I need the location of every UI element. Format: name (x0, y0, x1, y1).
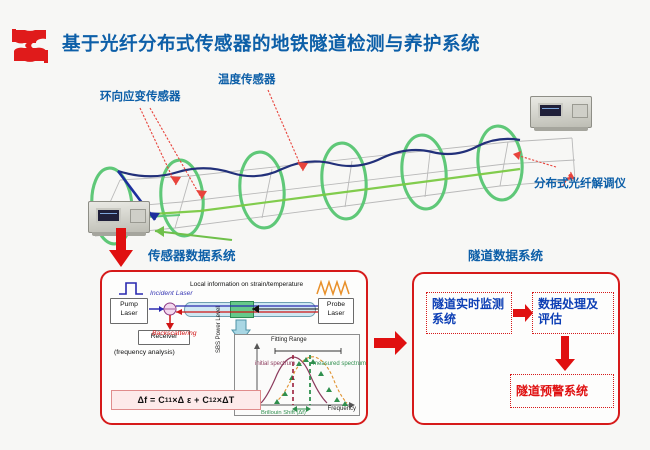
metro-logo-icon (10, 26, 50, 66)
arrow-down-to-sensor-panel (108, 228, 134, 268)
formula-rhs: ×ΔT (217, 395, 235, 405)
box-data-processing-evaluation[interactable]: 数据处理及评估 (532, 292, 614, 334)
fitting-range-label: Fitting Range (271, 337, 307, 343)
box-tunnel-warning-system[interactable]: 隧道预警系统 (510, 374, 614, 408)
chart-ylabel: SBS Power Level (216, 297, 222, 353)
measured-spectrum-label: measured spectrum (313, 361, 366, 368)
instrument-screen (538, 103, 563, 118)
box-tunnel-monitoring-system[interactable]: 隧道实时监测系统 (426, 292, 512, 334)
page-title: 基于光纤分布式传感器的地铁隧道检测与养护系统 (62, 30, 480, 56)
brillouin-shift-label: Brillouin Shift (Δf) (261, 410, 306, 416)
formula-lhs: Δf = C (137, 395, 164, 405)
formula-mid: ×Δ ε + C (172, 395, 209, 405)
chart-xlabel: Frequency (328, 406, 356, 412)
caption-tunnel-data-system: 隧道数据系统 (468, 245, 543, 264)
arrow-process-to-warning (555, 336, 575, 372)
label-temperature-sensor: 温度传感器 (218, 73, 276, 87)
instrument-foot (534, 127, 589, 131)
initial-spectrum-label: initial spectrum (255, 361, 295, 368)
tunnel-data-panel: 隧道实时监测系统 数据处理及评估 隧道预警系统 (412, 272, 620, 425)
instrument-knobs (572, 104, 588, 118)
label-hoop-strain-sensor: 环向应变传感器 (100, 90, 181, 104)
arrow-monitor-to-process (513, 304, 533, 322)
formula-sub1: 11 (165, 397, 172, 404)
brillouin-formula: Δf = C11×Δ ε + C12×ΔT (111, 390, 261, 410)
instrument-screen (96, 208, 121, 223)
label-demodulator: 分布式光纤解调仪 (534, 177, 624, 191)
sensor-data-panel: Pump Laser Probe Laser Receiver (frequen… (100, 270, 368, 425)
arrow-panel-to-panel (374, 330, 408, 356)
formula-sub2: 12 (209, 397, 217, 404)
page-header: 基于光纤分布式传感器的地铁隧道检测与养护系统 (0, 22, 650, 68)
tunnel-scene: 环向应变传感器 温度传感器 分布式光纤解调仪 (0, 68, 650, 248)
right-analyzer-instrument (530, 96, 592, 128)
caption-sensor-data-system: 传感器数据系统 (148, 245, 236, 264)
instrument-knobs (130, 209, 146, 223)
